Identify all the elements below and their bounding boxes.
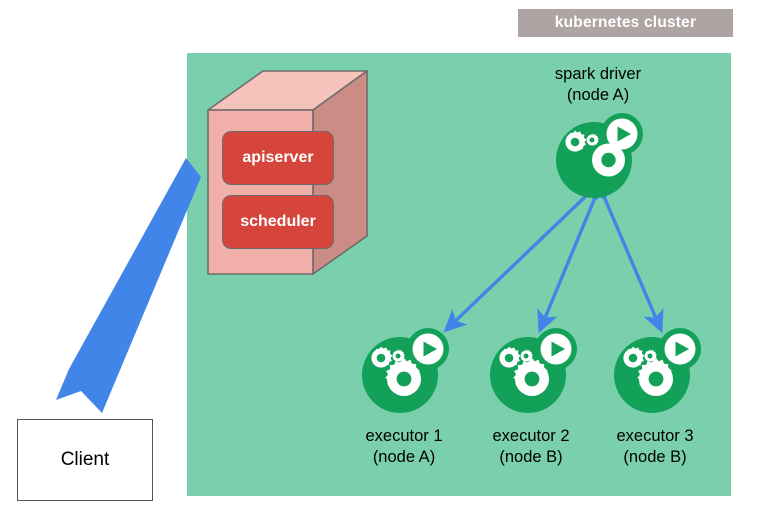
executor-3-caption: executor 3 (node B) xyxy=(591,426,719,468)
connector-driver-executor-1 xyxy=(446,196,586,330)
connector-driver-executor-2 xyxy=(540,200,594,330)
spark-driver-icon xyxy=(553,112,643,202)
executor-2-icon xyxy=(487,327,577,417)
connector-driver-executor-3 xyxy=(605,199,661,330)
executor-2-caption: executor 2 (node B) xyxy=(467,426,595,468)
spark-driver-caption: spark driver (node A) xyxy=(528,64,668,106)
executor-1-icon xyxy=(359,327,449,417)
diagram-canvas: kubernetes cluster spark-submit Client a… xyxy=(0,0,761,516)
executor-1-caption: executor 1 (node A) xyxy=(340,426,468,468)
executor-3-icon xyxy=(611,327,701,417)
